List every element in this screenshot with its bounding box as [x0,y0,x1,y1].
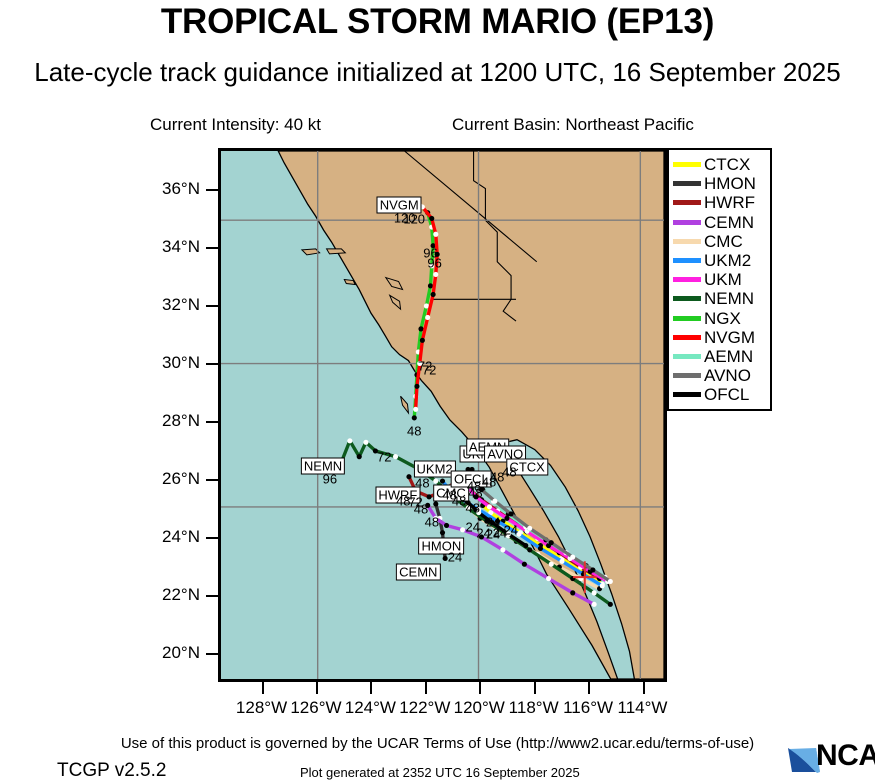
legend-item-ofcl[interactable]: OFCL [673,385,766,404]
legend-item-nemn[interactable]: NEMN [673,289,766,308]
ncar-logo: NCAR [786,742,874,778]
legend-item-hwrf[interactable]: HWRF [673,193,766,212]
y-axis-label: 28°N [144,411,200,431]
forecast-hour-label: 48 [482,475,496,488]
forecast-hour-label: 72 [422,364,436,377]
forecast-hour-label: 24 [448,551,462,564]
legend-swatch [673,239,701,244]
y-axis-label: 30°N [144,353,200,373]
legend-label: CMC [704,233,743,250]
y-axis-tick [206,479,218,481]
forecast-hour-label: 48 [452,494,466,507]
legend-label: HMON [704,175,756,192]
x-axis-tick [425,682,427,694]
forecast-hour-label: 72 [377,451,391,464]
legend-swatch [673,162,701,167]
x-axis-tick [316,682,318,694]
y-axis-label: 34°N [144,237,200,257]
forecast-hour-label: 48 [468,487,482,500]
y-axis-label: 24°N [144,527,200,547]
y-axis-label: 36°N [144,179,200,199]
legend-label: NGX [704,310,741,327]
legend-swatch [673,335,701,340]
x-axis-label: 118°W [509,698,559,718]
legend-label: UKM [704,271,742,288]
y-axis-latitude: 20°N22°N24°N26°N28°N30°N32°N34°N36°N [150,148,218,682]
legend-item-aemn[interactable]: AEMN [673,347,766,366]
y-axis-label: 20°N [144,643,200,663]
terms-of-use-text: Use of this product is governed by the U… [0,735,875,752]
forecast-hour-label: 48 [415,477,429,490]
y-axis-label: 32°N [144,295,200,315]
model-callout-cemn: CEMN [396,563,440,580]
map-label-layer: NVGMNEMNHWRFUKM2CMCOFCLUKMAEMNAVNOCTCXHM… [221,151,664,679]
forecast-hour-label: 120 [403,213,425,226]
legend-item-nvgm[interactable]: NVGM [673,328,766,347]
legend-swatch [673,220,701,225]
model-callout-ukm2: UKM2 [414,460,456,477]
forecast-hour-label: 48 [465,501,479,514]
legend-label: CEMN [704,214,754,231]
legend-label: CTCX [704,156,750,173]
legend-item-cmc[interactable]: CMC [673,232,766,251]
x-axis-tick [588,682,590,694]
legend-swatch [673,373,701,378]
y-axis-tick [206,247,218,249]
version-text: TCGP v2.5.2 [57,760,166,782]
x-axis-label: 114°W [618,698,668,718]
model-legend[interactable]: CTCXHMONHWRFCEMNCMCUKM2UKMNEMNNGXNVGMAEM… [667,148,772,411]
legend-label: NVGM [704,329,755,346]
x-axis-label: 126°W [290,698,341,718]
legend-label: HWRF [704,194,755,211]
legend-item-hmon[interactable]: HMON [673,174,766,193]
y-axis-label: 22°N [144,585,200,605]
x-axis-label: 124°W [345,698,396,718]
legend-swatch [673,258,701,263]
forecast-hour-label: 24 [504,523,518,536]
page-subtitle: Late-cycle track guidance initialized at… [0,57,875,88]
forecast-hour-label: 48 [407,425,421,438]
legend-label: UKM2 [704,252,751,269]
x-axis-tick [262,682,264,694]
legend-swatch [673,200,701,205]
legend-label: NEMN [704,290,754,307]
y-axis-tick [206,363,218,365]
legend-label: OFCL [704,386,749,403]
forecast-hour-label: 96 [427,256,441,269]
y-axis-tick [206,653,218,655]
legend-item-cemn[interactable]: CEMN [673,213,766,232]
legend-swatch [673,296,701,301]
y-axis-tick [206,537,218,539]
ncar-logo-text: NCAR [816,741,875,771]
legend-label: AEMN [704,348,753,365]
legend-item-ukm2[interactable]: UKM2 [673,251,766,270]
x-axis-label: 128°W [236,698,287,718]
y-axis-tick [206,189,218,191]
x-axis-longitude: 128°W126°W124°W122°W120°W118°W116°W114°W [218,682,667,722]
legend-swatch [673,277,701,282]
x-axis-label: 116°W [563,698,613,718]
y-axis-tick [206,421,218,423]
x-axis-label: 122°W [399,698,450,718]
x-axis-tick [534,682,536,694]
legend-item-ukm[interactable]: UKM [673,270,766,289]
y-axis-label: 26°N [144,469,200,489]
y-axis-tick [206,305,218,307]
x-axis-label: 120°W [454,698,505,718]
legend-swatch [673,316,701,321]
x-axis-tick [370,682,372,694]
page-title: TROPICAL STORM MARIO (EP13) [0,2,875,42]
track-map-plot[interactable]: NVGMNEMNHWRFUKM2CMCOFCLUKMAEMNAVNOCTCXHM… [218,148,667,682]
current-intensity-text: Current Intensity: 40 kt [150,115,321,135]
forecast-hour-label: 48 [414,503,428,516]
forecast-hour-label: 48 [396,494,410,507]
y-axis-tick [206,595,218,597]
forecast-hour-label: 48 [425,516,439,529]
legend-item-ngx[interactable]: NGX [673,309,766,328]
x-axis-tick [643,682,645,694]
legend-swatch [673,392,701,397]
forecast-hour-label: 96 [323,472,337,485]
legend-swatch [673,181,701,186]
x-axis-tick [479,682,481,694]
generated-text: Plot generated at 2352 UTC 16 September … [300,765,580,780]
legend-swatch [673,354,701,359]
current-basin-text: Current Basin: Northeast Pacific [452,115,694,135]
legend-item-ctcx[interactable]: CTCX [673,155,766,174]
legend-item-avno[interactable]: AVNO [673,366,766,385]
legend-label: AVNO [704,367,751,384]
